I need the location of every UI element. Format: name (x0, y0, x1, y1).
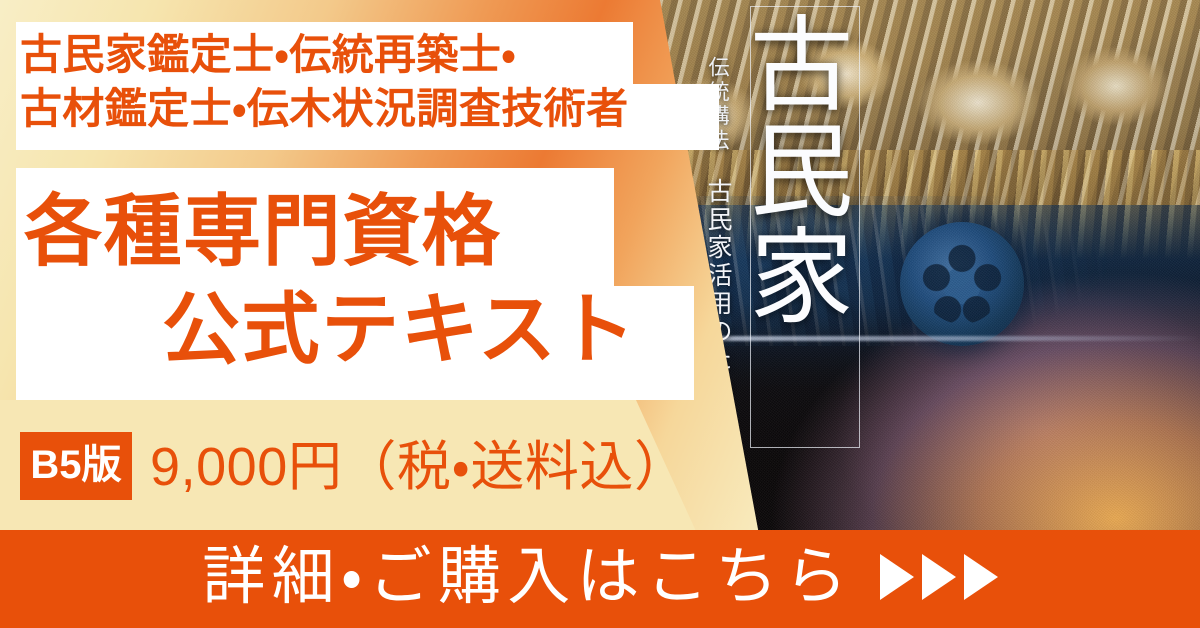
format-badge: B5版 (20, 432, 132, 500)
qualifications-line-1: 古民家鑑定士・伝統再築士・ (20, 34, 516, 76)
promo-banner: 古民家 伝統構法 古民家活用のための調査と再生の 古民家鑑定士・伝統再築士・ 古… (0, 0, 1200, 628)
qualifications-line-2: 古材鑑定士・伝木状況調査技術者 (20, 88, 629, 130)
price-label: 9,000円（税・送料込） (150, 440, 689, 494)
chevron-right-icon-1 (880, 554, 914, 600)
family-crest-tile-icon (900, 222, 1024, 346)
cover-title: 古民家 (752, 10, 858, 328)
chevron-right-icon-3 (964, 554, 998, 600)
title-line-2: 公式テキスト (162, 290, 637, 368)
format-badge-label: B5版 (20, 445, 132, 485)
cta-content[interactable]: 詳細・ご購入はこちら (0, 530, 1200, 628)
cta-bar[interactable]: 詳細・ご購入はこちら (0, 530, 1200, 628)
cta-arrows (880, 554, 998, 600)
cta-label: 詳細・ご購入はこちら (202, 546, 853, 609)
chevron-right-icon-2 (922, 554, 956, 600)
title-line-1: 各種専門資格 (24, 192, 501, 270)
